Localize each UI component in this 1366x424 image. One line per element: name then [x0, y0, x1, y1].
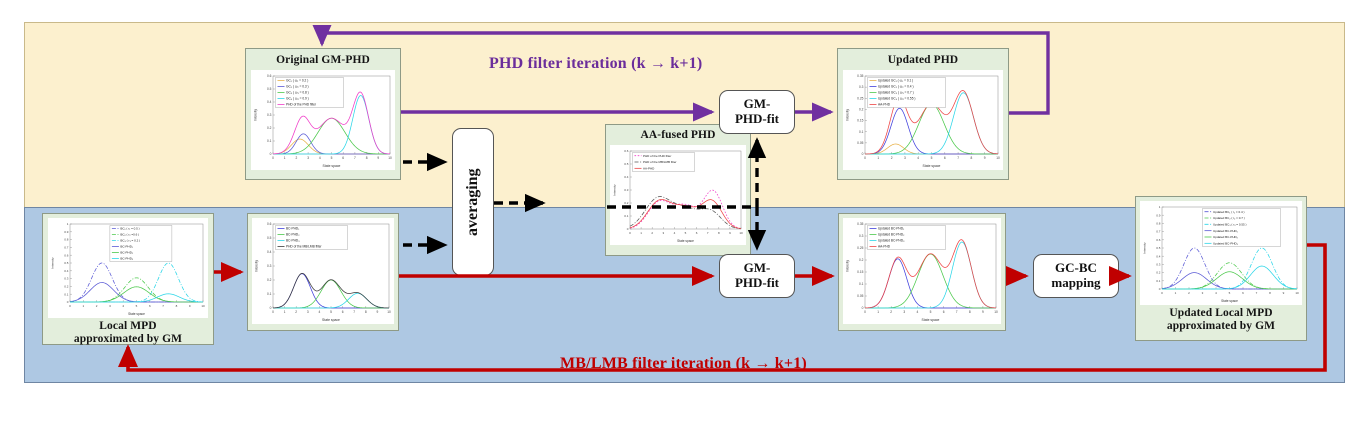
updated-local-mpd-title: Updated Local MPD approximated by GM	[1167, 307, 1275, 333]
gm-phd-fit-top-box[interactable]: GM- PHD-fit	[719, 90, 795, 134]
svg-text:BC-PHD₃: BC-PHD₃	[286, 239, 300, 243]
svg-text:State space: State space	[923, 164, 941, 168]
svg-text:6: 6	[943, 310, 945, 314]
svg-text:Updated BC₂ ( r₂ = 0.7 ): Updated BC₂ ( r₂ = 0.7 )	[1213, 216, 1245, 220]
svg-text:0.25: 0.25	[857, 96, 863, 100]
svg-text:0.05: 0.05	[857, 141, 863, 145]
updated-bc-phd-box: 01234567891000.050.10.150.20.250.30.35St…	[838, 213, 1006, 331]
svg-text:Updated BC₃ ( r₃ = 0.55 ): Updated BC₃ ( r₃ = 0.55 )	[1213, 222, 1247, 226]
svg-text:8: 8	[971, 156, 973, 160]
svg-text:Intensity: Intensity	[254, 109, 258, 121]
svg-text:9: 9	[984, 156, 986, 160]
svg-text:7: 7	[957, 156, 959, 160]
gm-phd-fit-bottom-label-line2: PHD-fit	[735, 276, 779, 291]
svg-text:Updated BC-PHD₂: Updated BC-PHD₂	[1213, 235, 1239, 239]
aa-fused-phd-box: AA-fused PHD 01234567891000.10.20.30.40.…	[605, 124, 751, 256]
svg-text:4: 4	[319, 156, 321, 160]
svg-text:BC-PHD₁: BC-PHD₁	[286, 227, 299, 231]
svg-text:Updated BC-PHD₃: Updated BC-PHD₃	[878, 239, 905, 243]
svg-text:3: 3	[903, 310, 905, 314]
svg-text:GC₂ ( ω₂ = 0.3 ): GC₂ ( ω₂ = 0.3 )	[286, 84, 309, 88]
svg-text:GC₄ ( ω₄ = 0.9 ): GC₄ ( ω₄ = 0.9 )	[286, 96, 309, 100]
svg-text:0.6: 0.6	[267, 74, 272, 78]
svg-text:0.3: 0.3	[64, 277, 69, 281]
original-gm-phd-plot: 01234567891000.10.20.30.40.50.6State spa…	[251, 70, 395, 170]
svg-text:4: 4	[319, 310, 321, 314]
svg-text:0.2: 0.2	[624, 201, 629, 205]
svg-text:3: 3	[307, 310, 309, 314]
svg-text:5: 5	[930, 310, 932, 314]
local-mpd-box: 01234567891000.10.20.30.40.50.60.70.80.9…	[42, 213, 214, 345]
svg-text:Updated GC₁ ( ω₁ = 0.1 ): Updated GC₁ ( ω₁ = 0.1 )	[878, 78, 913, 82]
updated-phd-plot: 01234567891000.050.10.150.20.250.30.35St…	[843, 70, 1003, 170]
svg-text:0.1: 0.1	[64, 292, 69, 296]
svg-text:State space: State space	[922, 318, 940, 322]
svg-text:PHD of the PHD filter: PHD of the PHD filter	[643, 154, 671, 158]
svg-text:0.4: 0.4	[267, 250, 272, 254]
svg-text:BC-PHD₂: BC-PHD₂	[120, 251, 134, 255]
svg-text:1: 1	[877, 156, 879, 160]
svg-text:0.35: 0.35	[857, 222, 863, 226]
svg-text:6: 6	[944, 156, 946, 160]
svg-text:10: 10	[387, 310, 391, 314]
gm-phd-fit-top-label-line1: GM-	[744, 97, 771, 112]
bc-phd-box: 01234567891000.10.20.30.40.50.6State spa…	[247, 213, 399, 331]
svg-text:4: 4	[917, 310, 919, 314]
original-gm-phd-box: Original GM-PHD 01234567891000.10.20.30.…	[245, 48, 401, 180]
svg-text:BC-PHD₃: BC-PHD₃	[120, 257, 134, 261]
svg-text:GC₃ ( ω₃ = 0.8 ): GC₃ ( ω₃ = 0.8 )	[286, 90, 309, 94]
svg-text:5: 5	[330, 310, 332, 314]
svg-text:10: 10	[388, 156, 392, 160]
svg-text:0: 0	[272, 310, 274, 314]
svg-text:0.9: 0.9	[64, 230, 69, 234]
svg-text:0.6: 0.6	[64, 253, 69, 257]
svg-text:State space: State space	[322, 318, 340, 322]
svg-text:1: 1	[284, 310, 286, 314]
svg-text:0: 0	[272, 156, 274, 160]
svg-text:0.6: 0.6	[624, 149, 629, 153]
svg-text:1: 1	[284, 156, 286, 160]
svg-text:8: 8	[969, 310, 971, 314]
svg-text:6: 6	[342, 310, 344, 314]
svg-text:0.2: 0.2	[267, 278, 272, 282]
averaging-box[interactable]: averaging	[452, 128, 494, 276]
svg-text:10: 10	[994, 310, 998, 314]
local-mpd-title-line2: approximated by GM	[74, 333, 182, 346]
svg-text:0: 0	[862, 152, 864, 156]
svg-text:0.3: 0.3	[859, 234, 864, 238]
svg-text:Updated BC-PHD₃: Updated BC-PHD₃	[1213, 241, 1239, 245]
svg-text:0.7: 0.7	[64, 246, 69, 250]
svg-text:0: 0	[862, 306, 864, 310]
svg-text:0: 0	[864, 156, 866, 160]
svg-text:Intensity: Intensity	[846, 109, 850, 121]
svg-text:2: 2	[890, 310, 892, 314]
averaging-label: averaging	[464, 168, 482, 236]
svg-text:PHD of the MB/LMB filter: PHD of the MB/LMB filter	[643, 160, 677, 164]
svg-text:0.35: 0.35	[857, 74, 863, 78]
phd-filter-iteration-label: PHD filter iteration (k → k+1)	[489, 55, 702, 73]
updated-bc-phd-plot: 01234567891000.050.10.150.20.250.30.35St…	[843, 218, 1001, 324]
gm-phd-fit-top-label-line2: PHD-fit	[735, 112, 779, 127]
svg-text:0.9: 0.9	[1156, 213, 1161, 217]
svg-text:0: 0	[270, 306, 272, 310]
svg-text:0: 0	[270, 152, 272, 156]
svg-text:Intensity: Intensity	[613, 184, 617, 196]
svg-text:BC₂ ( r₂ =0.6 ): BC₂ ( r₂ =0.6 )	[120, 233, 139, 237]
svg-text:Updated GC₂ ( ω₂ = 0.4 ): Updated GC₂ ( ω₂ = 0.4 )	[878, 84, 914, 88]
svg-text:7: 7	[353, 310, 355, 314]
svg-text:0.5: 0.5	[267, 236, 272, 240]
svg-text:7: 7	[354, 156, 356, 160]
svg-text:10: 10	[996, 156, 1000, 160]
aa-fused-phd-plot: 01234567891000.10.20.30.40.50.6State spa…	[610, 145, 746, 245]
svg-text:2: 2	[296, 156, 298, 160]
svg-text:0.2: 0.2	[1156, 271, 1161, 275]
svg-text:3: 3	[307, 156, 309, 160]
svg-text:0.4: 0.4	[1156, 254, 1161, 258]
local-mpd-title: Local MPD approximated by GM	[74, 320, 182, 346]
updated-local-mpd-plot: 01234567891000.10.20.30.40.50.60.70.80.9…	[1140, 201, 1302, 305]
svg-text:9: 9	[982, 310, 984, 314]
bc-phd-plot: 01234567891000.10.20.30.40.50.6State spa…	[252, 218, 394, 324]
svg-text:6: 6	[342, 156, 344, 160]
svg-text:Updated BC-PHD₂: Updated BC-PHD₂	[878, 233, 905, 237]
original-gm-phd-title: Original GM-PHD	[276, 54, 370, 67]
svg-text:Intensity: Intensity	[255, 260, 259, 272]
svg-text:Updated BC₁ ( r₁ = 0.4 ): Updated BC₁ ( r₁ = 0.4 )	[1213, 210, 1244, 214]
svg-text:8: 8	[365, 310, 367, 314]
svg-text:AA-PHD: AA-PHD	[643, 166, 655, 170]
updated-local-mpd-title-line1: Updated Local MPD	[1167, 307, 1275, 320]
svg-text:0.3: 0.3	[859, 85, 864, 89]
svg-text:0: 0	[864, 310, 866, 314]
svg-text:0.3: 0.3	[267, 264, 272, 268]
svg-text:Intensity: Intensity	[846, 260, 850, 272]
svg-text:0.15: 0.15	[857, 119, 863, 123]
svg-text:PHD of the MB/LMB filter: PHD of the MB/LMB filter	[286, 245, 323, 249]
svg-text:4: 4	[917, 156, 919, 160]
svg-text:State space: State space	[1221, 299, 1238, 303]
svg-text:5: 5	[331, 156, 333, 160]
svg-text:10: 10	[1295, 291, 1299, 295]
svg-text:8: 8	[366, 156, 368, 160]
svg-text:0.8: 0.8	[1156, 222, 1161, 226]
svg-text:Updated GC₄ ( ω₄ = 0.55 ): Updated GC₄ ( ω₄ = 0.55 )	[878, 96, 915, 100]
svg-text:BC-PHD₂: BC-PHD₂	[286, 233, 300, 237]
svg-text:0.8: 0.8	[64, 238, 69, 242]
svg-text:State space: State space	[677, 239, 694, 243]
aa-fused-phd-title: AA-fused PHD	[641, 129, 716, 142]
svg-text:7: 7	[956, 310, 958, 314]
svg-text:PHD of the PHD filter: PHD of the PHD filter	[286, 102, 317, 106]
svg-text:0.4: 0.4	[267, 100, 272, 104]
svg-text:0.2: 0.2	[859, 258, 864, 262]
gc-bc-mapping-label-line2: mapping	[1051, 276, 1100, 291]
svg-text:0.5: 0.5	[1156, 246, 1161, 250]
svg-text:GC₁ ( ω₁ = 0.2 ): GC₁ ( ω₁ = 0.2 )	[286, 78, 308, 82]
svg-text:0.5: 0.5	[267, 87, 272, 91]
svg-text:0.1: 0.1	[1156, 279, 1161, 283]
svg-text:1: 1	[877, 310, 879, 314]
svg-text:2: 2	[295, 310, 297, 314]
local-mpd-title-line1: Local MPD	[74, 320, 182, 333]
svg-text:State space: State space	[323, 164, 341, 168]
svg-text:0.7: 0.7	[1156, 230, 1161, 234]
svg-text:0.1: 0.1	[267, 292, 272, 296]
svg-text:0.3: 0.3	[624, 188, 629, 192]
gm-phd-fit-bottom-box[interactable]: GM- PHD-fit	[719, 254, 795, 298]
updated-phd-box: Updated PHD 01234567891000.050.10.150.20…	[837, 48, 1009, 180]
svg-text:10: 10	[739, 231, 743, 235]
svg-text:0.15: 0.15	[857, 270, 863, 274]
svg-text:5: 5	[931, 156, 933, 160]
updated-local-mpd-title-line2: approximated by GM	[1167, 320, 1275, 333]
svg-text:0.4: 0.4	[64, 269, 69, 273]
svg-text:Updated GC₃ ( ω₃ = 0.7 ): Updated GC₃ ( ω₃ = 0.7 )	[878, 90, 914, 94]
svg-text:0.2: 0.2	[859, 107, 864, 111]
svg-text:BC₃ ( r₃ = 0.2 ): BC₃ ( r₃ = 0.2 )	[120, 239, 140, 243]
updated-local-mpd-box: 01234567891000.10.20.30.40.50.60.70.80.9…	[1135, 196, 1307, 341]
svg-text:Intensity: Intensity	[51, 257, 55, 269]
svg-text:BC₁ ( r₁ = 0.5 ): BC₁ ( r₁ = 0.5 )	[120, 227, 139, 231]
svg-text:Updated BC-PHD₁: Updated BC-PHD₁	[878, 227, 904, 231]
svg-text:0.6: 0.6	[1156, 238, 1161, 242]
mb-lmb-filter-iteration-label: MB/LMB filter iteration (k → k+1)	[560, 355, 807, 373]
svg-text:2: 2	[891, 156, 893, 160]
svg-text:0.2: 0.2	[267, 126, 272, 130]
svg-text:0.2: 0.2	[64, 285, 69, 289]
svg-text:9: 9	[377, 310, 379, 314]
svg-text:0.5: 0.5	[624, 162, 629, 166]
svg-text:0.1: 0.1	[859, 282, 864, 286]
svg-text:Intensity: Intensity	[1143, 242, 1147, 254]
gc-bc-mapping-label-line1: GC-BC	[1055, 261, 1097, 276]
gm-phd-fit-bottom-label-line1: GM-	[744, 261, 771, 276]
svg-text:0.6: 0.6	[267, 222, 272, 226]
svg-text:0.1: 0.1	[624, 214, 629, 218]
svg-text:0.1: 0.1	[859, 130, 864, 134]
svg-text:0.25: 0.25	[857, 246, 863, 250]
svg-text:9: 9	[377, 156, 379, 160]
gc-bc-mapping-box[interactable]: GC-BC mapping	[1033, 254, 1119, 298]
svg-text:State space: State space	[128, 312, 145, 316]
local-mpd-plot: 01234567891000.10.20.30.40.50.60.70.80.9…	[48, 218, 208, 318]
svg-text:0.4: 0.4	[624, 175, 629, 179]
svg-text:BC-PHD₁: BC-PHD₁	[120, 245, 133, 249]
svg-text:10: 10	[201, 304, 205, 308]
svg-text:3: 3	[904, 156, 906, 160]
svg-text:0.5: 0.5	[64, 261, 69, 265]
updated-phd-title: Updated PHD	[888, 54, 958, 67]
svg-text:AA-PHD: AA-PHD	[878, 102, 891, 106]
svg-text:0.1: 0.1	[267, 139, 272, 143]
svg-text:0.05: 0.05	[857, 294, 863, 298]
svg-text:0.3: 0.3	[267, 113, 272, 117]
svg-text:Updated BC-PHD₁: Updated BC-PHD₁	[1213, 229, 1238, 233]
svg-text:0.3: 0.3	[1156, 263, 1161, 267]
svg-text:AA-PHD: AA-PHD	[878, 245, 891, 249]
